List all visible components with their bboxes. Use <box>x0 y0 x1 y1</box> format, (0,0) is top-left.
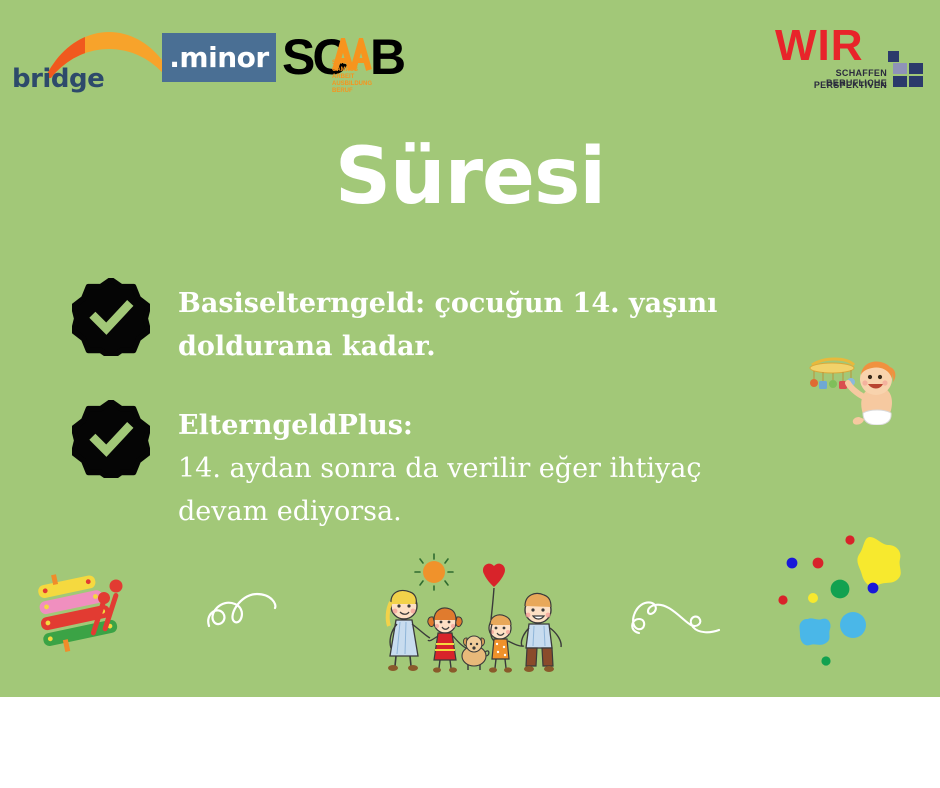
minor-logo: .minor <box>162 33 276 82</box>
wir-logo: WIR SCHAFFEN BERUFLICHE PERSPEKTIVEN <box>775 25 925 91</box>
doodle-squiggle-illustration <box>625 585 725 640</box>
bullet-line: ElterngeldPlus: <box>178 404 702 447</box>
wir-logo-subtitle-line2: PERSPEKTIVEN <box>775 80 887 90</box>
minor-logo-text: .minor <box>169 44 268 72</box>
scaab-logo: SC B SCHULE CAMPUS ARBEIT AUSBILDUNG BER… <box>282 28 400 86</box>
bullet-line: devam ediyorsa. <box>178 490 702 533</box>
bullet-text: Basiselterngeld: çocuğun 14. yaşını dold… <box>178 278 717 368</box>
bullet-line: 14. aydan sonra da verilir eğer ihtiyaç <box>178 447 702 490</box>
footer-bar: STAND: SEPTEMBER 2023 © MINOR Gefördert … <box>0 697 940 788</box>
doodle-squiggle-illustration <box>205 580 315 640</box>
check-badge-icon <box>72 278 150 356</box>
wir-logo-square-grid-icon <box>893 63 927 91</box>
scaab-logo-right-text: B <box>370 28 403 86</box>
confetti-stars-illustration <box>770 535 910 675</box>
scaab-logo-subtitle: SCHULE CAMPUS ARBEIT AUSBILDUNG BERUF <box>332 60 374 95</box>
baby-with-mobile-illustration <box>806 355 904 425</box>
bridge-logo-text: bridge <box>12 64 104 94</box>
bullet-item: Basiselterngeld: çocuğun 14. yaşını dold… <box>72 278 872 368</box>
family-drawing-illustration <box>372 552 572 674</box>
wir-logo-text: WIR <box>775 21 864 71</box>
bullet-line: doldurana kadar. <box>178 325 717 368</box>
page-title: Süresi <box>0 131 940 223</box>
check-badge-icon <box>72 400 150 478</box>
xylophone-toy-illustration <box>38 568 142 660</box>
bullet-text: ElterngeldPlus: 14. aydan sonra da veril… <box>178 400 702 533</box>
header-logo-row: bridge .minor SC B SCHULE CAMPUS ARBEIT … <box>0 0 940 110</box>
slide-canvas: bridge .minor SC B SCHULE CAMPUS ARBEIT … <box>0 0 940 788</box>
wir-logo-dot-icon <box>888 51 899 62</box>
bullet-item: ElterngeldPlus: 14. aydan sonra da veril… <box>72 400 872 533</box>
bridge-logo: bridge <box>12 26 162 94</box>
bullet-line: Basiselterngeld: çocuğun 14. yaşını <box>178 282 717 325</box>
